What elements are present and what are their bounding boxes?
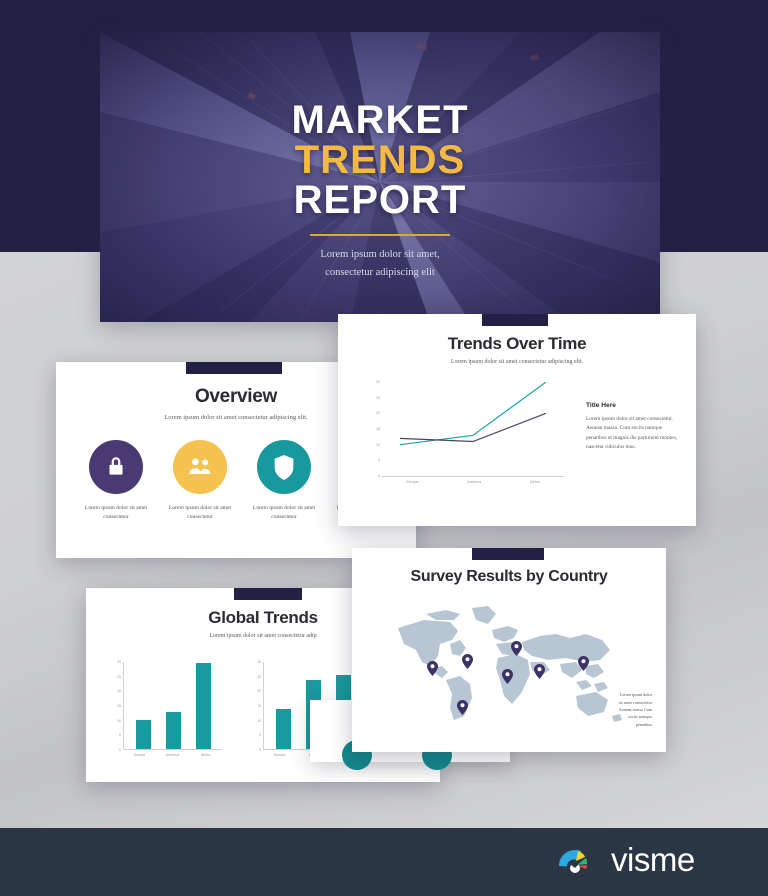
title-line-2: TRENDS bbox=[100, 140, 660, 180]
trends-side-text: Title Here Lorem ipsum dolor sit amet co… bbox=[586, 402, 678, 453]
title-line-1: MARKET bbox=[100, 100, 660, 140]
overview-item-2-caption: Lorem ipsum dolor sit amet consectetur bbox=[158, 504, 242, 521]
lock-icon bbox=[89, 440, 143, 494]
bar bbox=[196, 663, 211, 749]
slide-survey-results[interactable]: Survey Results by Country bbox=[352, 548, 666, 752]
overview-item-1[interactable]: Lorem ipsum dolor sit amet consectetur bbox=[74, 440, 158, 521]
visme-fan-logo-icon bbox=[556, 840, 602, 880]
title-divider bbox=[310, 234, 450, 236]
survey-note-line-1: Lorem ipsum dolor bbox=[586, 691, 652, 698]
survey-note-line-4: sociis natoque bbox=[586, 713, 652, 720]
shield-icon bbox=[257, 440, 311, 494]
overview-item-2[interactable]: Lorem ipsum dolor sit amet consectetur bbox=[158, 440, 242, 521]
map-pin[interactable] bbox=[511, 641, 522, 656]
overview-item-3-caption: Lorem ipsum dolor sit amet consectetur bbox=[242, 504, 326, 521]
survey-note-line-5: penatibus bbox=[586, 721, 652, 728]
overview-item-1-caption: Lorem ipsum dolor sit amet consectetur bbox=[74, 504, 158, 521]
survey-note: Lorem ipsum dolor sit amet consectetur A… bbox=[586, 691, 652, 728]
bar-chart-right-y-axis: 302520151050 bbox=[248, 662, 261, 750]
line-chart-plot bbox=[382, 382, 564, 477]
presentation-preview: MARKET TRENDS REPORT Lorem ipsum dolor s… bbox=[0, 0, 768, 896]
slide-tab-marker bbox=[472, 548, 544, 560]
map-pin[interactable] bbox=[534, 664, 545, 679]
map-pin[interactable] bbox=[427, 661, 438, 676]
bar-chart-left-x-axis: EuropeAmericaAfrica bbox=[123, 753, 222, 758]
trends-subtitle: Lorem ipsum dolor sit amet consectetur a… bbox=[338, 359, 696, 365]
slide-trends-over-time[interactable]: Trends Over Time Lorem ipsum dolor sit a… bbox=[338, 314, 696, 526]
overview-item-3[interactable]: Lorem ipsum dolor sit amet consectetur bbox=[242, 440, 326, 521]
map-pin[interactable] bbox=[457, 700, 468, 715]
bar-chart-left: 302520151050 EuropeAmericaAfrica bbox=[108, 662, 226, 766]
trends-side-body: Lorem ipsum dolor sit amet consectetur. … bbox=[586, 415, 678, 453]
slide-tab-marker bbox=[234, 588, 302, 600]
survey-note-line-3: Aenean massa Cum bbox=[586, 706, 652, 713]
title-subtitle-line-1: Lorem ipsum dolor sit amet, bbox=[100, 246, 660, 264]
map-pin[interactable] bbox=[578, 656, 589, 671]
trends-line-chart: 302520151050 EuropeAmericaAfrica bbox=[364, 382, 564, 492]
survey-title: Survey Results by Country bbox=[352, 568, 666, 586]
line-chart-y-axis: 302520151050 bbox=[364, 382, 380, 476]
map-pin[interactable] bbox=[462, 654, 473, 669]
slide-tab-marker bbox=[186, 362, 282, 374]
bar-chart-left-plot bbox=[123, 662, 222, 750]
line-chart-x-axis: EuropeAmericaAfrica bbox=[382, 480, 564, 484]
bar bbox=[276, 709, 291, 749]
title-text-block: MARKET TRENDS REPORT Lorem ipsum dolor s… bbox=[100, 100, 660, 282]
bar bbox=[166, 712, 181, 749]
title-subtitle-line-2: consectetur adipiscing elit bbox=[100, 264, 660, 282]
trends-side-heading: Title Here bbox=[586, 402, 678, 409]
bar bbox=[136, 720, 151, 749]
bar-chart-left-y-axis: 302520151050 bbox=[108, 662, 121, 750]
people-icon bbox=[173, 440, 227, 494]
map-pin[interactable] bbox=[502, 669, 513, 684]
survey-note-line-2: sit amet consectetur bbox=[586, 699, 652, 706]
title-line-3: REPORT bbox=[100, 180, 660, 220]
slide-tab-marker bbox=[482, 314, 548, 326]
visme-logo[interactable]: visme bbox=[556, 840, 695, 880]
visme-wordmark: visme bbox=[611, 841, 695, 879]
trends-title: Trends Over Time bbox=[338, 334, 696, 354]
slide-title-cover[interactable]: MARKET TRENDS REPORT Lorem ipsum dolor s… bbox=[100, 32, 660, 322]
